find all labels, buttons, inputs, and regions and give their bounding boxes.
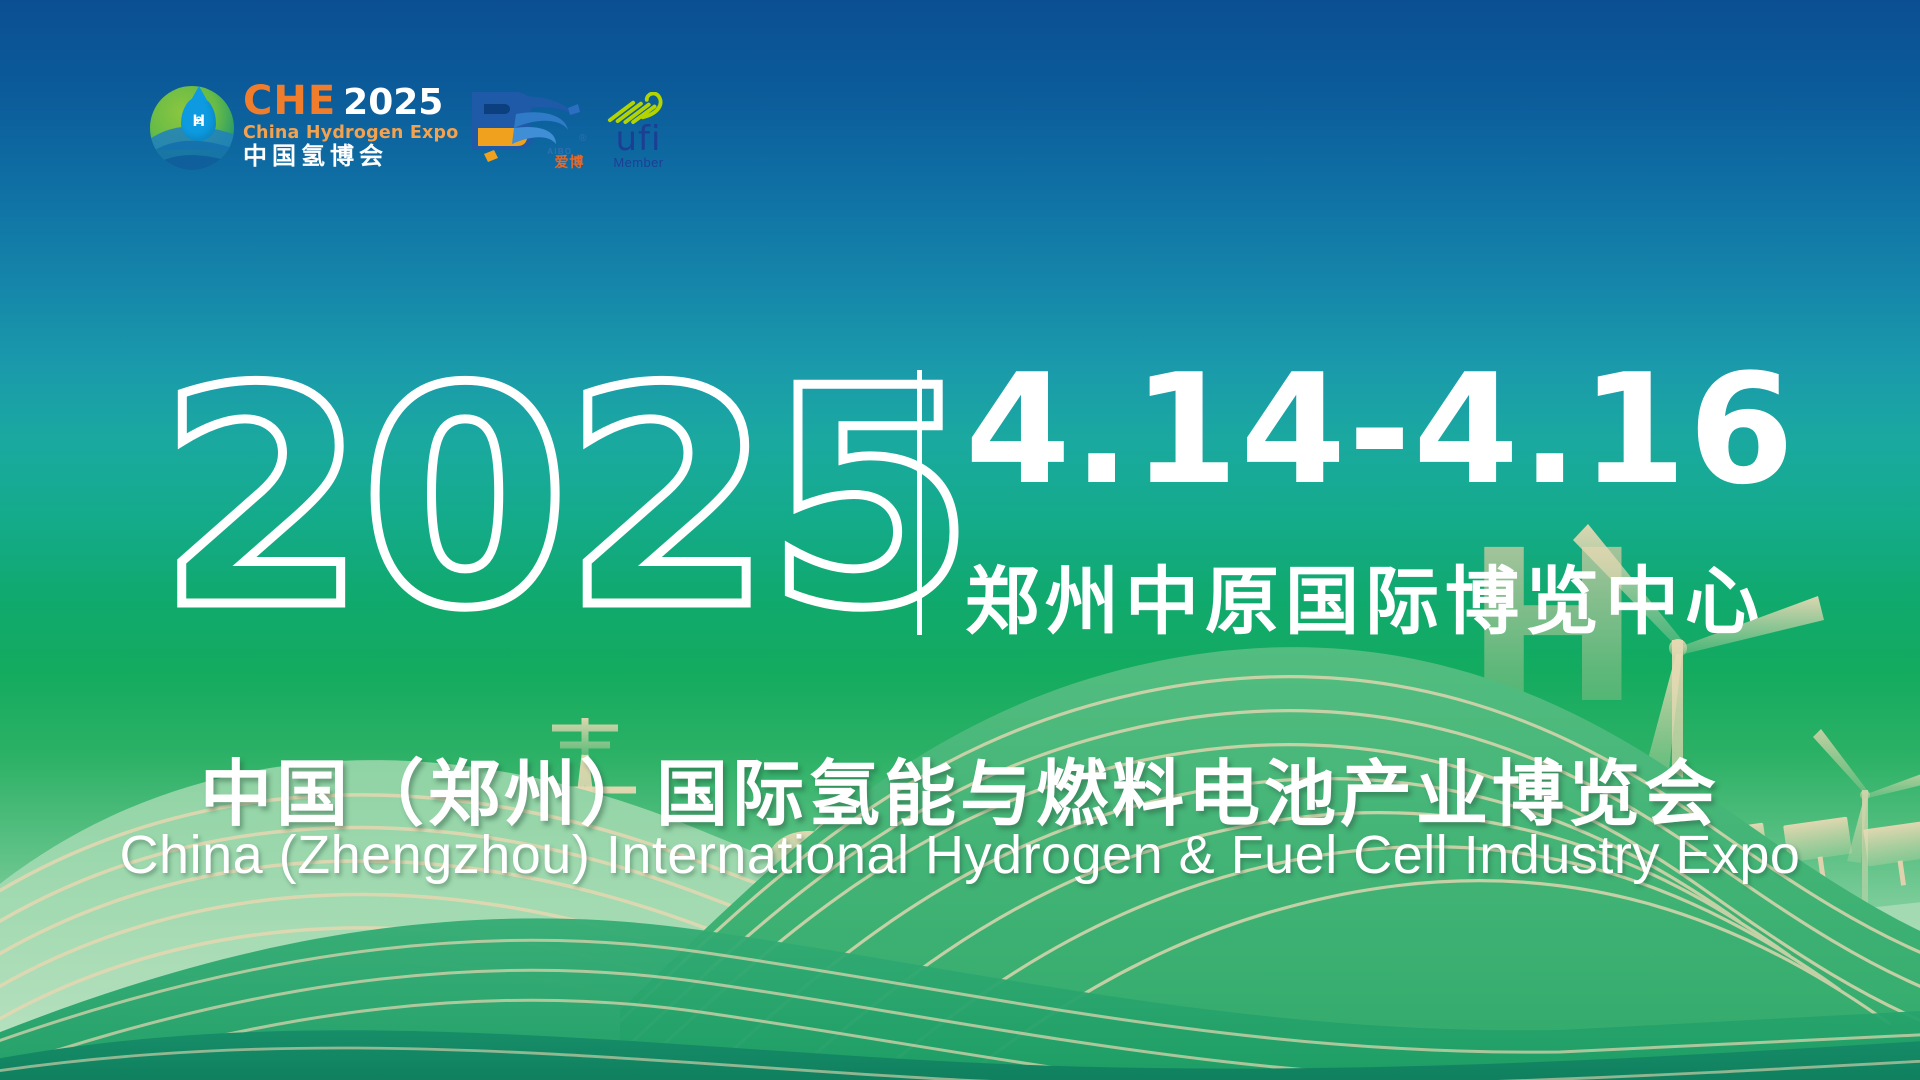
hero-divider — [917, 370, 922, 635]
che-chinese-name: 中国氢博会 — [243, 145, 458, 169]
poster-canvas: H — [0, 0, 1920, 1080]
ufi-member-caption: Member — [613, 155, 663, 170]
globe-icon: H2 — [150, 86, 234, 170]
che-acronym: CHE — [243, 81, 336, 121]
aibo-logo[interactable]: AIBO ® 爱博 — [464, 84, 582, 170]
che-logo-year: 2025 — [343, 85, 443, 121]
hydrogen-drop-icon: H2 — [181, 97, 216, 141]
hero-date-range: 4.14-4.16 — [965, 354, 1796, 506]
h2-label: H2 — [181, 97, 216, 141]
hero-year: 2025 — [158, 350, 969, 650]
che-english-name: China Hydrogen Expo — [243, 125, 458, 143]
wave-line-3 — [150, 144, 234, 170]
che-logo[interactable]: H2 CHE 2025 China Hydrogen Expo 中国氢博会 — [150, 81, 458, 171]
ufi-wordmark: ufi — [615, 125, 661, 154]
registered-icon: ® — [579, 133, 586, 144]
aibo-chinese-label: 爱博 — [554, 152, 584, 172]
logo-bar: H2 CHE 2025 China Hydrogen Expo 中国氢博会 — [150, 78, 684, 170]
hero-venue: 郑州中原国际博览中心 — [965, 542, 1765, 649]
expo-title-english: China (Zhengzhou) International Hydrogen… — [0, 824, 1920, 886]
ufi-member-logo[interactable]: ufi Member — [592, 82, 684, 170]
hero-block: 2025 4.14-4.16 郑州中原国际博览中心 — [0, 362, 1920, 662]
